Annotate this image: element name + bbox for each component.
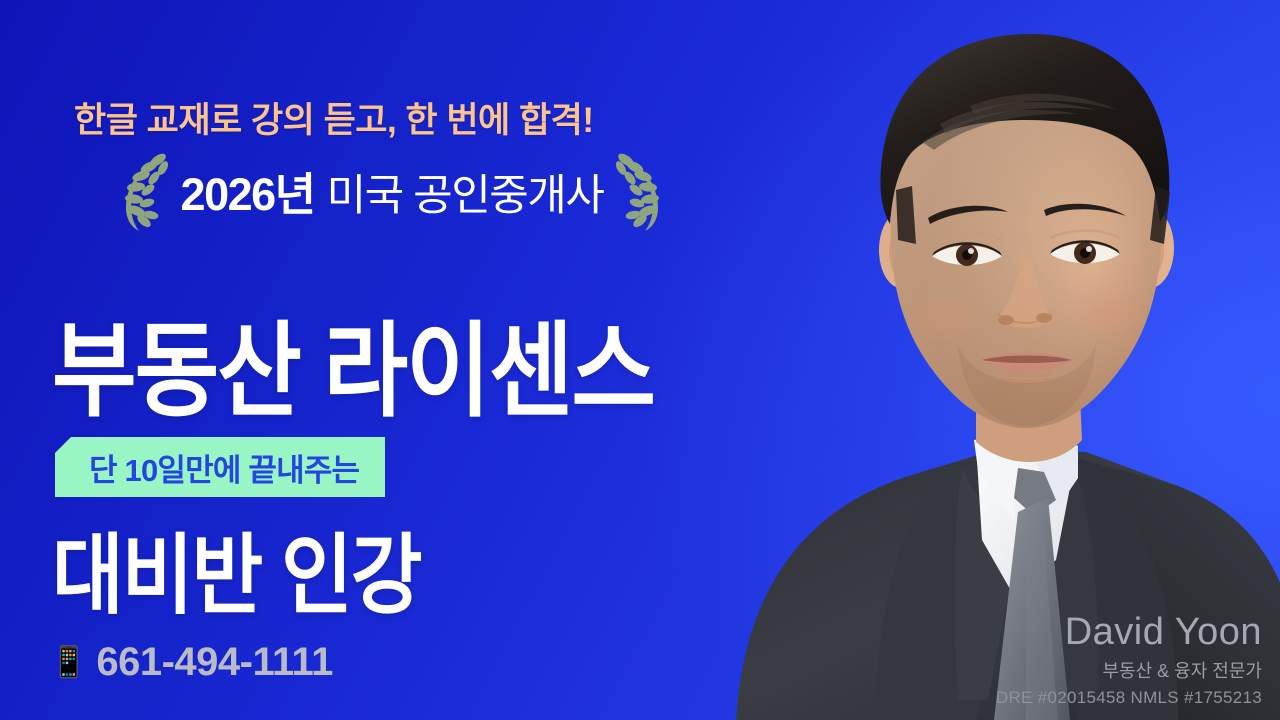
agent-name: David Yoon: [996, 609, 1262, 657]
course-duration-badge-label: 단 10일만에 끝내주는: [89, 445, 359, 490]
promo-banner: 한글 교재로 강의 듣고, 한 번에 합격!: [0, 0, 1280, 720]
mobile-phone-icon: 📱: [50, 648, 87, 678]
course-duration-badge: 단 10일만에 끝내주는: [55, 437, 385, 497]
contact-phone[interactable]: 📱 661-494-1111: [50, 640, 333, 685]
award-banner: 2026년 미국 공인중개사: [62, 148, 722, 232]
main-headline: 부동산 라이센스: [52, 288, 654, 437]
agent-license-numbers: DRE #02015458 NMLS #1755213: [996, 687, 1262, 708]
sub-headline: 대비반 인강: [52, 506, 420, 631]
agent-role: 부동산 & 융자 전문가: [996, 660, 1262, 683]
award-year: 2026년: [181, 158, 315, 223]
award-name: 미국 공인중개사: [327, 161, 604, 223]
promo-tagline: 한글 교재로 강의 듣고, 한 번에 합격!: [74, 92, 594, 143]
laurel-left-icon: [113, 148, 175, 232]
agent-credentials: David Yoon 부동산 & 융자 전문가 DRE #02015458 NM…: [996, 609, 1262, 708]
laurel-right-icon: [609, 148, 671, 232]
phone-number[interactable]: 661-494-1111: [96, 640, 332, 685]
